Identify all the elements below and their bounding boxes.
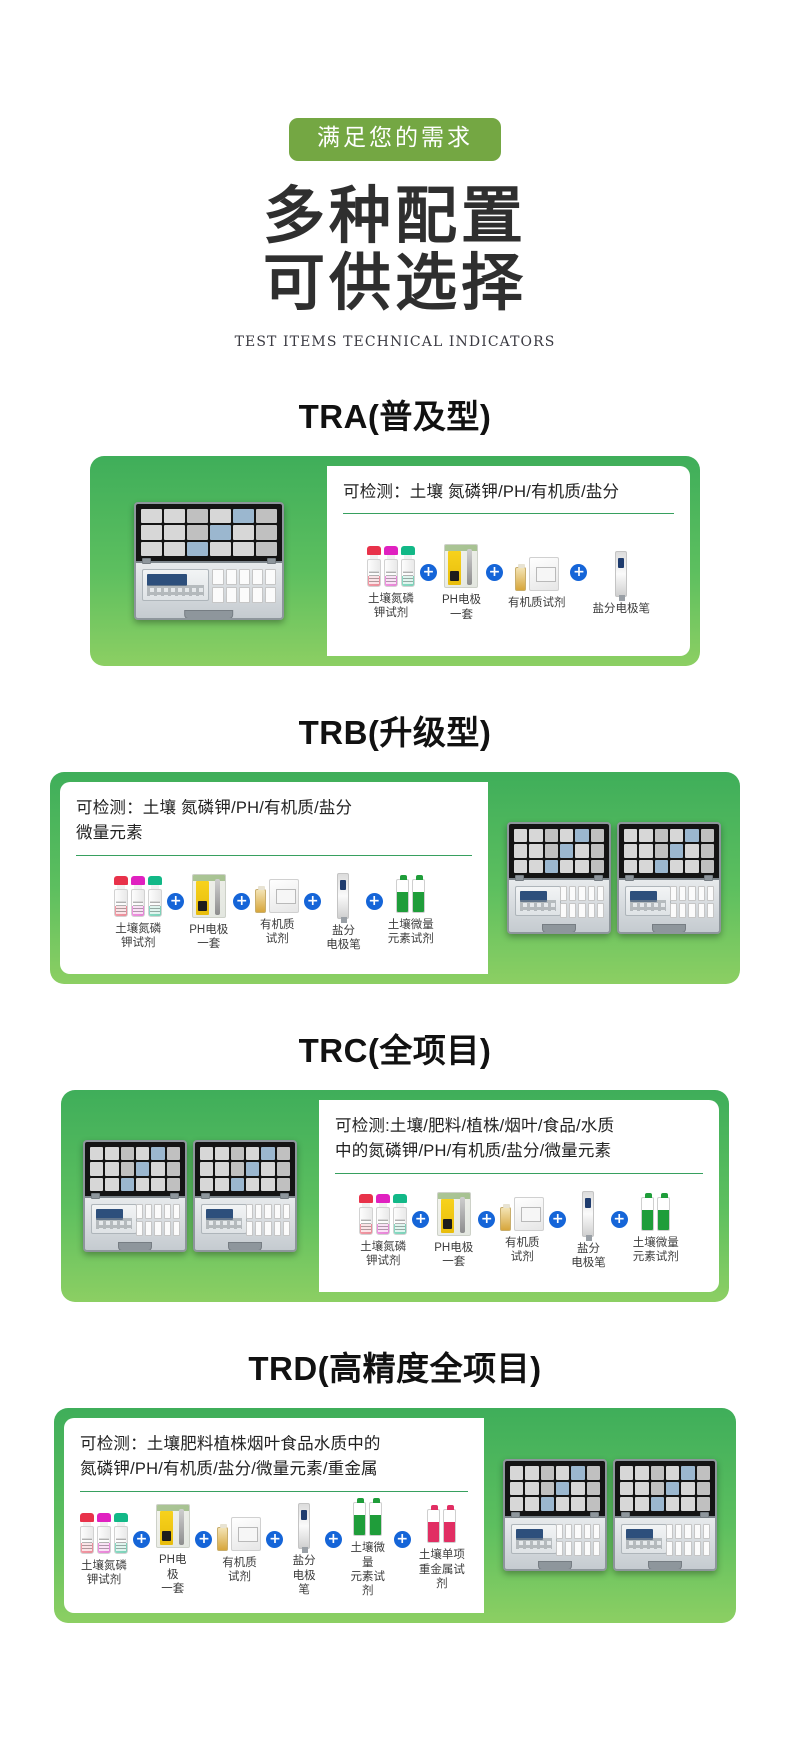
section-trd: TRD(高精度全项目)可检测：土壤肥料植株烟叶食品水质中的氮磷钾/PH/有机质/… (0, 1342, 790, 1623)
instrument-case-photo (193, 1140, 297, 1252)
accessory-item: 土壤氮磷 钾试剂 (367, 546, 415, 621)
accessory-item: 土壤氮磷 钾试剂 (359, 1194, 407, 1269)
section-title-trb: TRB(升级型) (0, 706, 790, 754)
accessory-item: 盐分 电极笔 (571, 1191, 606, 1271)
header-badge: 满足您的需求 (289, 118, 501, 161)
case-group (507, 822, 721, 934)
accessory-item: 有机质试剂 (508, 557, 566, 610)
section-title-trd: TRD(高精度全项目) (0, 1342, 790, 1390)
card-info-pane: 可检测:土壤/肥料/植株/烟叶/食品/水质中的氮磷钾/PH/有机质/盐分/微量元… (319, 1100, 719, 1292)
product-card-trb: 可检测：土壤 氮磷钾/PH/有机质/盐分微量元素土壤氮磷 钾试剂+PH电极 一套… (50, 772, 740, 984)
card-photo-pane (488, 772, 740, 984)
organic-reagent-icon (515, 557, 559, 591)
instrument-case-photo (134, 502, 284, 620)
plus-icon: + (304, 893, 321, 910)
accessory-label: PH电极 一套 (434, 1241, 473, 1270)
salinity-pen-icon (582, 1191, 594, 1237)
organic-reagent-icon (255, 879, 299, 913)
ph-electrode-icon (437, 1192, 471, 1236)
accessory-list: 土壤氮磷 钾试剂+PH电极 一套+有机质 试剂+盐分 电极笔+土壤微量 元素试剂… (80, 1492, 468, 1605)
plus-icon: + (133, 1531, 150, 1548)
plus-icon: + (549, 1211, 566, 1228)
accessory-item: 土壤微量 元素试剂 (633, 1197, 679, 1265)
micro-element-reagent-icon (353, 1502, 382, 1536)
plus-icon: + (233, 893, 250, 910)
accessory-list: 土壤氮磷 钾试剂+PH电极 一套+有机质 试剂+盐分 电极笔+土壤微量 元素试剂 (76, 856, 472, 966)
plus-icon: + (611, 1211, 628, 1228)
plus-icon: + (570, 564, 587, 581)
accessory-item: 有机质 试剂 (255, 879, 299, 947)
salinity-pen-icon (337, 873, 349, 919)
sections-container: TRA(普及型)可检测：土壤 氮磷钾/PH/有机质/盐分土壤氮磷 钾试剂+PH电… (0, 390, 790, 1623)
detect-text-block: 可检测：土壤肥料植株烟叶食品水质中的氮磷钾/PH/有机质/盐分/微量元素/重金属 (80, 1432, 468, 1483)
plus-icon: + (486, 564, 503, 581)
accessory-label: 土壤微量 元素试剂 (633, 1236, 679, 1265)
ph-electrode-icon (444, 544, 478, 588)
accessory-label: PH电极 一套 (442, 593, 481, 622)
card-info-pane: 可检测：土壤 氮磷钾/PH/有机质/盐分土壤氮磷 钾试剂+PH电极 一套+有机质… (327, 466, 690, 656)
section-title-trc: TRC(全项目) (0, 1024, 790, 1072)
accessory-label: 有机质试剂 (508, 596, 566, 610)
detect-line: 氮磷钾/PH/有机质/盐分/微量元素/重金属 (80, 1457, 468, 1483)
accessory-label: 土壤微量 元素试剂 (388, 918, 434, 947)
accessory-item: 土壤微量 元素试剂 (347, 1502, 389, 1599)
accessory-label: 土壤氮磷 钾试剂 (115, 922, 161, 951)
accessory-label: 有机质 试剂 (222, 1556, 257, 1585)
accessory-label: 盐分 电极笔 (571, 1242, 606, 1271)
section-trb: TRB(升级型)可检测：土壤 氮磷钾/PH/有机质/盐分微量元素土壤氮磷 钾试剂… (0, 706, 790, 984)
case-group (503, 1459, 717, 1571)
instrument-case-photo (83, 1140, 187, 1252)
accessory-label: 盐分 电极笔 (326, 924, 361, 953)
accessory-item: 有机质 试剂 (217, 1517, 261, 1585)
reagent-bottles-icon (80, 1513, 128, 1554)
instrument-case-photo (503, 1459, 607, 1571)
product-card-trd: 可检测：土壤肥料植株烟叶食品水质中的氮磷钾/PH/有机质/盐分/微量元素/重金属… (54, 1408, 736, 1623)
accessory-item: 盐分 电极笔 (288, 1503, 319, 1597)
plus-icon: + (167, 893, 184, 910)
accessory-label: PH电极 一套 (189, 923, 228, 952)
card-info-pane: 可检测：土壤肥料植株烟叶食品水质中的氮磷钾/PH/有机质/盐分/微量元素/重金属… (64, 1418, 484, 1613)
plus-icon: + (478, 1211, 495, 1228)
product-spec-page: 满足您的需求 多种配置 可供选择 TEST ITEMS TECHNICAL IN… (0, 0, 790, 1663)
instrument-case-photo (613, 1459, 717, 1571)
micro-element-reagent-icon (641, 1197, 670, 1231)
accessory-item: PH电极 一套 (434, 1192, 473, 1270)
detect-line: 中的氮磷钾/PH/有机质/盐分/微量元素 (335, 1139, 703, 1165)
card-photo-pane (90, 456, 327, 666)
heavy-metal-reagent-icon (427, 1509, 456, 1543)
page-subtitle-english: TEST ITEMS TECHNICAL INDICATORS (0, 334, 790, 350)
accessory-label: 土壤氮磷 钾试剂 (368, 592, 414, 621)
instrument-case-photo (617, 822, 721, 934)
case-group (134, 502, 284, 620)
footer-spacer (0, 1623, 790, 1633)
accessory-list: 土壤氮磷 钾试剂+PH电极 一套+有机质试剂+盐分电极笔 (343, 514, 674, 647)
plus-icon: + (412, 1211, 429, 1228)
card-info-pane: 可检测：土壤 氮磷钾/PH/有机质/盐分微量元素土壤氮磷 钾试剂+PH电极 一套… (60, 782, 488, 974)
accessory-label: 土壤微量 元素试剂 (347, 1541, 389, 1599)
organic-reagent-icon (217, 1517, 261, 1551)
plus-icon: + (420, 564, 437, 581)
detect-line: 可检测：土壤 氮磷钾/PH/有机质/盐分 (76, 796, 472, 822)
product-card-tra: 可检测：土壤 氮磷钾/PH/有机质/盐分土壤氮磷 钾试剂+PH电极 一套+有机质… (90, 456, 700, 666)
detect-line: 可检测:土壤/肥料/植株/烟叶/食品/水质 (335, 1114, 703, 1140)
plus-icon: + (325, 1531, 342, 1548)
accessory-label: 有机质 试剂 (260, 918, 295, 947)
accessory-item: 土壤氮磷 钾试剂 (114, 876, 162, 951)
reagent-bottles-icon (359, 1194, 407, 1235)
section-trc: TRC(全项目)可检测:土壤/肥料/植株/烟叶/食品/水质中的氮磷钾/PH/有机… (0, 1024, 790, 1302)
page-title: 多种配置 可供选择 (0, 183, 790, 317)
section-title-tra: TRA(普及型) (0, 390, 790, 438)
accessory-item: 盐分电极笔 (592, 551, 650, 616)
case-group (83, 1140, 297, 1252)
micro-element-reagent-icon (396, 879, 425, 913)
detect-text-block: 可检测：土壤 氮磷钾/PH/有机质/盐分 (343, 480, 674, 506)
accessory-item: PH电极 一套 (442, 544, 481, 622)
ph-electrode-icon (192, 874, 226, 918)
plus-icon: + (394, 1531, 411, 1548)
card-photo-pane (484, 1408, 736, 1623)
reagent-bottles-icon (367, 546, 415, 587)
accessory-label: PH电极 一套 (155, 1553, 190, 1596)
accessory-label: 盐分电极笔 (592, 602, 650, 616)
detect-line: 可检测：土壤肥料植株烟叶食品水质中的 (80, 1432, 468, 1458)
instrument-case-photo (507, 822, 611, 934)
product-card-trc: 可检测:土壤/肥料/植株/烟叶/食品/水质中的氮磷钾/PH/有机质/盐分/微量元… (61, 1090, 729, 1302)
plus-icon: + (366, 893, 383, 910)
page-title-line-1: 多种配置 (0, 183, 790, 250)
detect-text-block: 可检测：土壤 氮磷钾/PH/有机质/盐分微量元素 (76, 796, 472, 847)
detect-line: 微量元素 (76, 821, 472, 847)
detect-line: 可检测：土壤 氮磷钾/PH/有机质/盐分 (343, 480, 674, 506)
accessory-item: 有机质 试剂 (500, 1197, 544, 1265)
ph-electrode-icon (156, 1504, 190, 1548)
plus-icon: + (266, 1531, 283, 1548)
accessory-label: 土壤氮磷 钾试剂 (81, 1559, 127, 1588)
page-title-line-2: 可供选择 (0, 250, 790, 317)
accessory-item: PH电极 一套 (155, 1504, 190, 1596)
accessory-item: PH电极 一套 (189, 874, 228, 952)
accessory-item: 盐分 电极笔 (326, 873, 361, 953)
reagent-bottles-icon (114, 876, 162, 917)
accessory-label: 有机质 试剂 (505, 1236, 540, 1265)
salinity-pen-icon (615, 551, 627, 597)
accessory-label: 土壤单项 重金属试剂 (416, 1548, 468, 1591)
accessory-item: 土壤单项 重金属试剂 (416, 1509, 468, 1591)
accessory-item: 土壤微量 元素试剂 (388, 879, 434, 947)
page-header: 满足您的需求 多种配置 可供选择 TEST ITEMS TECHNICAL IN… (0, 0, 790, 350)
card-photo-pane (61, 1090, 319, 1302)
accessory-label: 土壤氮磷 钾试剂 (360, 1240, 406, 1269)
salinity-pen-icon (298, 1503, 310, 1549)
accessory-list: 土壤氮磷 钾试剂+PH电极 一套+有机质 试剂+盐分 电极笔+土壤微量 元素试剂 (335, 1174, 703, 1284)
organic-reagent-icon (500, 1197, 544, 1231)
section-tra: TRA(普及型)可检测：土壤 氮磷钾/PH/有机质/盐分土壤氮磷 钾试剂+PH电… (0, 390, 790, 666)
accessory-item: 土壤氮磷 钾试剂 (80, 1513, 128, 1588)
accessory-label: 盐分 电极笔 (288, 1554, 319, 1597)
plus-icon: + (195, 1531, 212, 1548)
detect-text-block: 可检测:土壤/肥料/植株/烟叶/食品/水质中的氮磷钾/PH/有机质/盐分/微量元… (335, 1114, 703, 1165)
